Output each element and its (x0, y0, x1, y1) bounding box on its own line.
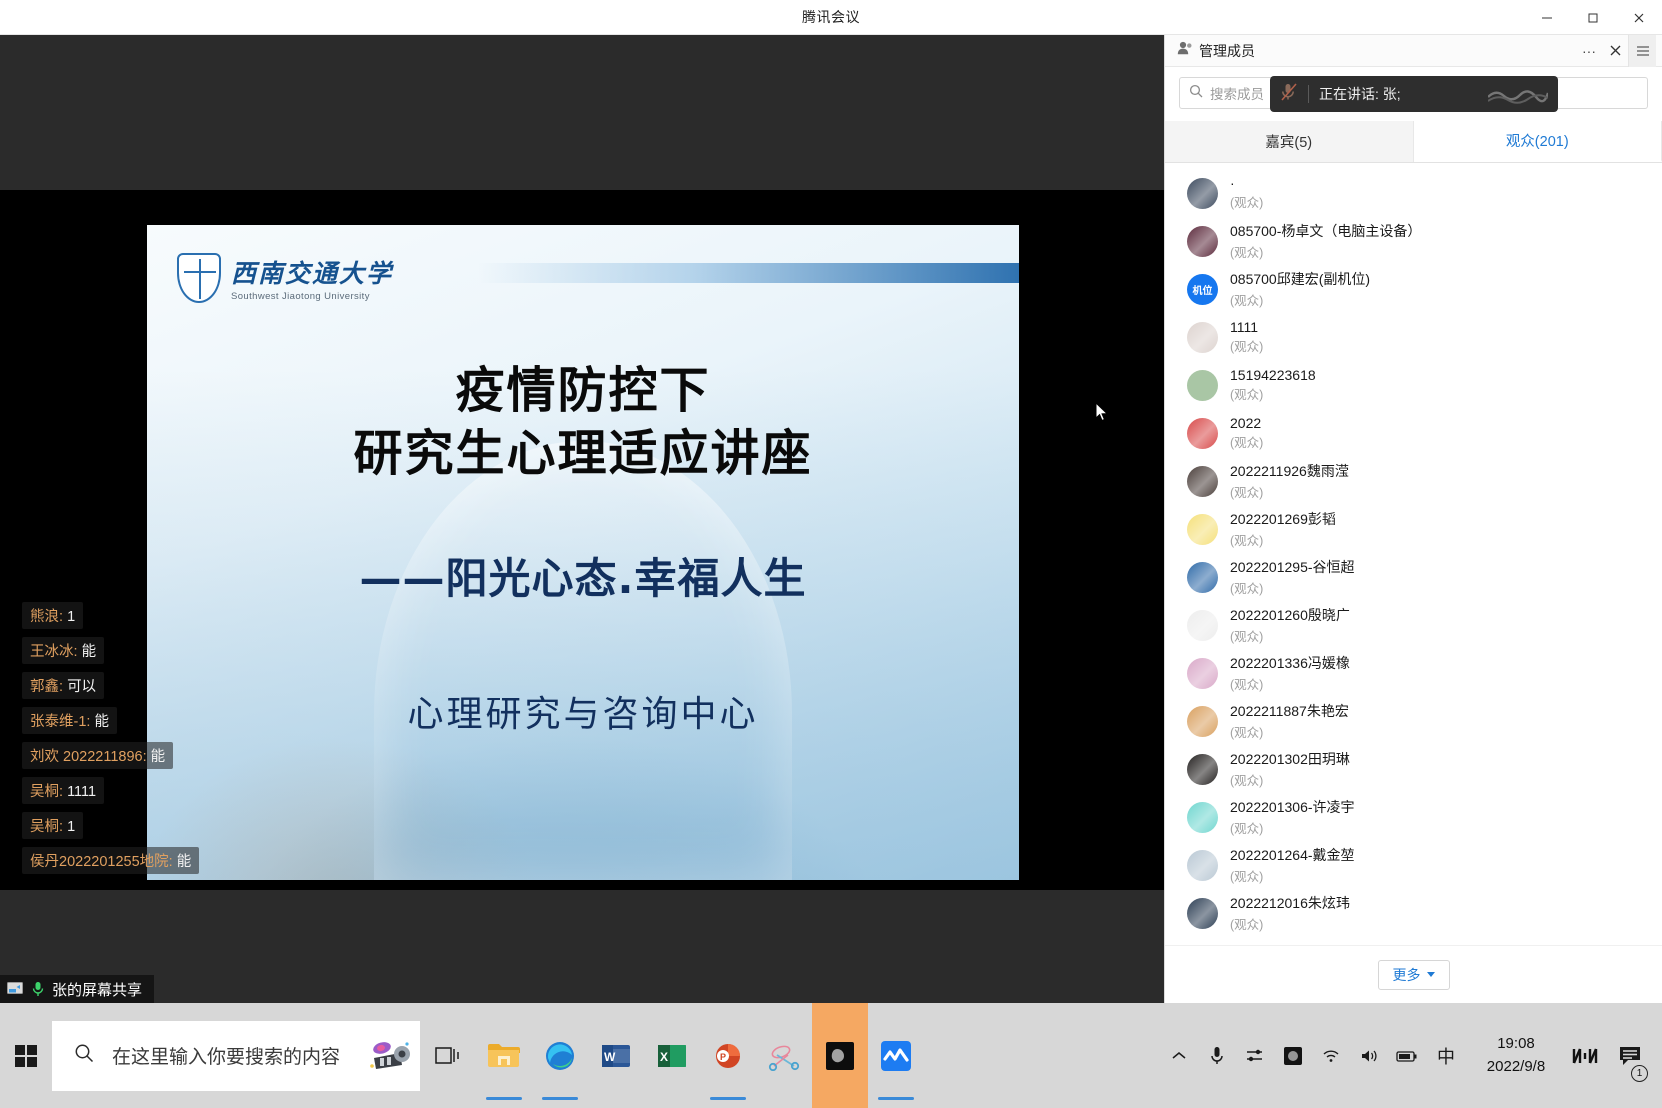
avatar (1187, 898, 1218, 929)
mouse-cursor (1095, 402, 1109, 427)
chat-message-author: 郭鑫: (30, 679, 67, 695)
member-list[interactable]: ·(观众)085700-杨卓文（电脑主设备）(观众)机位085700邱建宏(副机… (1165, 163, 1662, 945)
chat-message-author: 侯丹2022201255地院: (30, 854, 177, 870)
microsoft-edge-icon[interactable] (532, 1003, 588, 1108)
university-name-en: Southwest Jiaotong University (231, 291, 393, 302)
chat-message-text: 1111 (67, 784, 96, 800)
audio-waveform-icon (1488, 83, 1548, 105)
member-name: 15194223618 (1230, 367, 1316, 383)
member-role: (观众) (1230, 290, 1370, 309)
member-role: (观众) (1230, 722, 1349, 741)
window-title-bar: 腾讯会议 (0, 0, 1662, 35)
microphone-tray-icon[interactable] (1198, 1003, 1236, 1108)
volume-icon[interactable] (1350, 1003, 1388, 1108)
avatar (1187, 370, 1218, 401)
cortana-icon[interactable] (366, 1036, 412, 1076)
member-role: (观众) (1230, 482, 1349, 501)
clock-date: 2022/9/8 (1487, 1056, 1545, 1079)
shield-icon (177, 253, 221, 303)
member-name: 2022211926魏雨滢 (1230, 461, 1349, 481)
member-info: 2022201260殷晓广(观众) (1230, 605, 1350, 645)
member-name: · (1230, 175, 1263, 191)
member-name: 2022201295-谷恒超 (1230, 557, 1355, 577)
member-list-item[interactable]: 15194223618(观众) (1165, 361, 1662, 409)
app-title: 腾讯会议 (802, 7, 860, 27)
panel-title: 管理成员 (1199, 41, 1255, 61)
slide-footer: 心理研究与咨询中心 (147, 685, 1019, 737)
member-name: 2022201336冯媛橡 (1230, 653, 1350, 673)
member-name: 2022201306-许凌宇 (1230, 797, 1355, 817)
member-list-item[interactable]: 2022201264-戴金堃(观众) (1165, 841, 1662, 889)
share-badge-label: 张的屏幕共享 (52, 979, 142, 1000)
member-info: 2022201269彭韬(观众) (1230, 509, 1336, 549)
member-list-item[interactable]: 2022201295-谷恒超(观众) (1165, 553, 1662, 601)
meeting-stage: 西南交通大学 Southwest Jiaotong University 疫情防… (0, 35, 1164, 1003)
member-name: 085700邱建宏(副机位) (1230, 269, 1370, 289)
presentation-slide: 西南交通大学 Southwest Jiaotong University 疫情防… (147, 225, 1019, 880)
meeting-tray-icon[interactable] (1566, 1003, 1604, 1108)
speaking-now-toast: 正在讲话: 张; (1270, 76, 1558, 112)
member-name: 2022201260殷晓广 (1230, 605, 1350, 625)
member-info: 2022201306-许凌宇(观众) (1230, 797, 1355, 837)
svg-text:P: P (720, 1052, 726, 1062)
panel-close-button[interactable] (1602, 38, 1628, 64)
members-icon (1177, 41, 1193, 60)
taskbar-search-input[interactable]: 在这里输入你要搜索的内容 (52, 1021, 420, 1091)
member-info: 2022201302田玥琳(观众) (1230, 749, 1350, 789)
notification-center-button[interactable]: 1 (1604, 1003, 1656, 1108)
avatar (1187, 466, 1218, 497)
battery-icon[interactable] (1388, 1003, 1426, 1108)
member-info: 2022(观众) (1230, 415, 1263, 451)
show-hidden-icons-button[interactable] (1160, 1003, 1198, 1108)
chat-message-text: 能 (94, 714, 109, 730)
member-role: (观众) (1230, 866, 1355, 885)
running-indicator (710, 1097, 746, 1100)
system-tray: 中 19:08 2022/9/8 1 (1160, 1003, 1662, 1108)
avatar (1187, 802, 1218, 833)
avatar (1187, 178, 1218, 209)
member-list-item[interactable]: 2022201306-许凌宇(观众) (1165, 793, 1662, 841)
member-role: (观众) (1230, 192, 1263, 211)
tab-label: 嘉宾(5) (1265, 131, 1312, 152)
avatar (1187, 514, 1218, 545)
chat-message-author: 熊浪: (30, 609, 67, 625)
chat-message-text: 能 (151, 749, 166, 765)
tencent-meeting-icon[interactable] (868, 1003, 924, 1108)
tab-guests[interactable]: 嘉宾(5) (1165, 121, 1414, 162)
search-icon (1189, 84, 1203, 103)
chevron-down-icon (1427, 972, 1435, 977)
university-logo: 西南交通大学 Southwest Jiaotong University (177, 253, 393, 303)
member-role: (观众) (1230, 770, 1350, 789)
close-button[interactable] (1616, 0, 1662, 35)
obs-studio-icon[interactable] (812, 1003, 868, 1108)
tab-audience[interactable]: 观众(201) (1414, 121, 1662, 162)
chat-message: 吴桐: 1 (22, 812, 83, 839)
avatar (1187, 322, 1218, 353)
chat-message: 吴桐: 1111 (22, 777, 104, 804)
chat-message: 刘欢 2022211896: 能 (22, 742, 173, 769)
member-role: (观众) (1230, 674, 1350, 693)
running-indicator (878, 1097, 914, 1100)
chat-message: 熊浪: 1 (22, 602, 83, 629)
chat-message-author: 刘欢 2022211896: (30, 749, 151, 765)
window-controls (1524, 0, 1662, 35)
avatar (1187, 418, 1218, 449)
slide-header-bar (478, 263, 1019, 283)
member-role: (观众) (1230, 242, 1421, 261)
avatar (1187, 226, 1218, 257)
chat-overlay: 熊浪: 1王冰冰: 能郭鑫: 可以张泰维-1: 能刘欢 2022211896: … (0, 590, 250, 884)
manage-members-panel: 管理成员 ··· 搜索成员 正在讲话: 张; 嘉宾(5)观众(201) (1164, 35, 1662, 1003)
member-list-item[interactable]: 机位085700邱建宏(副机位)(观众) (1165, 265, 1662, 313)
member-list-item[interactable]: 2022(观众) (1165, 409, 1662, 457)
chat-message-author: 吴桐: (30, 784, 67, 800)
load-more-label: 更多 (1393, 965, 1421, 985)
member-name: 2022212016朱炫玮 (1230, 893, 1350, 913)
slide-subtitle: ——阳光心态.幸福人生 (147, 545, 1019, 606)
chat-message-author: 王冰冰: (30, 644, 82, 660)
chat-message-author: 吴桐: (30, 819, 67, 835)
member-info: 085700-杨卓文（电脑主设备）(观众) (1230, 221, 1421, 261)
svg-text:X: X (660, 1050, 668, 1064)
member-name: 1111 (1230, 319, 1263, 335)
microsoft-excel-icon[interactable]: X (644, 1003, 700, 1108)
panel-more-options-button[interactable]: ··· (1576, 38, 1602, 64)
member-name: 2022201264-戴金堃 (1230, 845, 1355, 865)
clock-time: 19:08 (1497, 1033, 1535, 1056)
ime-indicator[interactable]: 中 (1426, 1043, 1466, 1069)
chat-message-text: 能 (177, 854, 192, 870)
member-name: 2022201269彭韬 (1230, 509, 1336, 529)
load-more-button[interactable]: 更多 (1378, 960, 1450, 990)
member-name: 2022 (1230, 415, 1263, 431)
member-name: 2022211887朱艳宏 (1230, 701, 1349, 721)
minimize-button[interactable] (1524, 0, 1570, 35)
avatar (1187, 562, 1218, 593)
member-list-item[interactable]: 2022201302田玥琳(观众) (1165, 745, 1662, 793)
microsoft-powerpoint-icon[interactable]: P (700, 1003, 756, 1108)
running-indicator (486, 1097, 522, 1100)
member-list-item[interactable]: 2022211887朱艳宏(观众) (1165, 697, 1662, 745)
member-list-item[interactable]: 2022201260殷晓广(观众) (1165, 601, 1662, 649)
panel-tabs: 嘉宾(5)观众(201) (1165, 121, 1662, 163)
taskbar-search-placeholder: 在这里输入你要搜索的内容 (112, 1042, 340, 1069)
avatar (1187, 658, 1218, 689)
search-placeholder: 搜索成员 (1210, 83, 1264, 103)
member-list-item[interactable]: 085700-杨卓文（电脑主设备）(观众) (1165, 217, 1662, 265)
chat-message-text: 可以 (67, 679, 96, 695)
toast-divider (1308, 85, 1309, 103)
slide-title-line1: 疫情防控下 (147, 360, 1019, 423)
snipping-tool-icon[interactable] (756, 1003, 812, 1108)
member-list-item[interactable]: 2022212016朱炫玮(观众) (1165, 889, 1662, 937)
panel-menu-button[interactable] (1628, 35, 1656, 67)
member-role: (观众) (1230, 818, 1355, 837)
chat-message: 张泰维-1: 能 (22, 707, 117, 734)
chat-message-author: 张泰维-1: (30, 714, 94, 730)
obs-tray-icon[interactable] (1274, 1003, 1312, 1108)
chat-message: 王冰冰: 能 (22, 637, 104, 664)
member-list-item[interactable]: 2022211926魏雨滢(观众) (1165, 457, 1662, 505)
svg-text:W: W (604, 1050, 616, 1064)
member-list-item[interactable]: 国男2022211894赵国男 (1165, 937, 1662, 945)
member-info: 15194223618(观众) (1230, 367, 1316, 403)
taskbar-clock[interactable]: 19:08 2022/9/8 (1466, 1033, 1566, 1078)
wifi-icon[interactable] (1312, 1003, 1350, 1108)
avatar (1187, 610, 1218, 641)
slide-title-line2: 研究生心理适应讲座 (147, 423, 1019, 486)
member-info: 2022201295-谷恒超(观众) (1230, 557, 1355, 597)
avatar (1187, 706, 1218, 737)
member-info: 2022201336冯媛橡(观众) (1230, 653, 1350, 693)
member-list-item[interactable]: 1111(观众) (1165, 313, 1662, 361)
start-button[interactable] (0, 1003, 52, 1108)
microsoft-word-icon[interactable]: W (588, 1003, 644, 1108)
avatar (1187, 850, 1218, 881)
tab-label: 观众(201) (1506, 130, 1569, 151)
chat-message-text: 1 (67, 819, 75, 835)
panel-header: 管理成员 ··· (1165, 35, 1662, 67)
member-role: (观众) (1230, 432, 1263, 451)
member-info: ·(观众) (1230, 175, 1263, 211)
screen-share-icon (6, 980, 24, 998)
file-explorer-icon[interactable] (476, 1003, 532, 1108)
member-role: (观众) (1230, 336, 1263, 355)
maximize-button[interactable] (1570, 0, 1616, 35)
member-list-item[interactable]: 2022201336冯媛橡(观众) (1165, 649, 1662, 697)
member-list-item[interactable]: ·(观众) (1165, 169, 1662, 217)
chat-message-text: 能 (82, 644, 97, 660)
member-info: 2022212016朱炫玮(观众) (1230, 893, 1350, 933)
member-role: (观众) (1230, 914, 1350, 933)
panel-footer: 更多 (1165, 945, 1662, 1003)
speaking-now-label: 正在讲话: 张; (1319, 84, 1401, 104)
avatar (1187, 754, 1218, 785)
member-role: (观众) (1230, 384, 1316, 403)
university-name-cn: 西南交通大学 (231, 254, 393, 290)
slide-title: 疫情防控下 研究生心理适应讲座 (147, 360, 1019, 485)
task-view-button[interactable] (420, 1003, 476, 1108)
windows-taskbar: 在这里输入你要搜索的内容 W X (0, 1003, 1662, 1108)
chat-message: 郭鑫: 可以 (22, 672, 104, 699)
microphone-muted-icon (1280, 82, 1298, 107)
microphone-icon (29, 980, 47, 998)
member-info: 2022211887朱艳宏(观众) (1230, 701, 1349, 741)
member-role: (观众) (1230, 626, 1350, 645)
member-info: 2022201264-戴金堃(观众) (1230, 845, 1355, 885)
running-indicator (542, 1097, 578, 1100)
search-row: 搜索成员 正在讲话: 张; (1165, 67, 1662, 121)
member-name: 085700-杨卓文（电脑主设备） (1230, 221, 1421, 241)
chat-message: 侯丹2022201255地院: 能 (22, 847, 199, 874)
search-icon (74, 1043, 94, 1068)
member-name: 2022201302田玥琳 (1230, 749, 1350, 769)
screen-share-badge: 张的屏幕共享 (0, 975, 154, 1003)
member-info: 2022211926魏雨滢(观众) (1230, 461, 1349, 501)
settings-sliders-icon[interactable] (1236, 1003, 1274, 1108)
member-info: 1111(观众) (1230, 319, 1263, 355)
chat-message-text: 1 (67, 609, 75, 625)
member-role: (观众) (1230, 530, 1336, 549)
notification-count: 1 (1631, 1065, 1648, 1082)
member-list-item[interactable]: 2022201269彭韬(观众) (1165, 505, 1662, 553)
member-role: (观众) (1230, 578, 1355, 597)
avatar: 机位 (1187, 274, 1218, 305)
member-info: 085700邱建宏(副机位)(观众) (1230, 269, 1370, 309)
